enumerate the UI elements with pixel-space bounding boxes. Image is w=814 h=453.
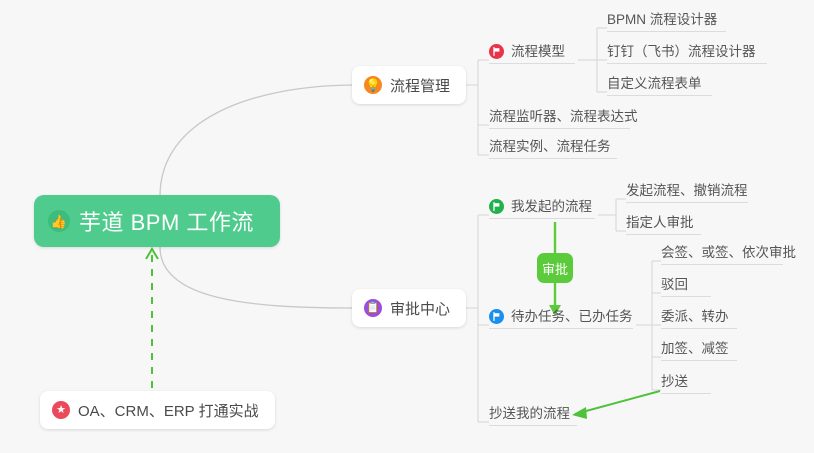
node-wo-faqi-de-liucheng[interactable]: 我发起的流程 xyxy=(489,198,595,219)
approval-badge[interactable]: 审批 xyxy=(537,253,573,283)
node-faqi-chexiao[interactable]: 发起流程、撤销流程 xyxy=(626,182,748,203)
node-chaosong-wode-liucheng[interactable]: 抄送我的流程 xyxy=(489,405,577,426)
branch-label: 审批中心 xyxy=(390,298,450,319)
flag-green-icon xyxy=(489,199,504,214)
node-daiban-yiban-renwu[interactable]: 待办任务、已办任务 xyxy=(489,308,633,329)
approval-badge-label: 审批 xyxy=(542,259,568,278)
chaosong-arrow xyxy=(572,391,660,419)
node-label: 自定义流程表单 xyxy=(607,75,702,92)
footnote-node[interactable]: ★ OA、CRM、ERP 打通实战 xyxy=(40,391,275,429)
node-liucheng-moxing[interactable]: 流程模型 xyxy=(489,43,575,64)
node-chaosong[interactable]: 抄送 xyxy=(661,373,711,394)
node-bohui[interactable]: 驳回 xyxy=(661,276,711,297)
node-liucheng-shili[interactable]: 流程实例、流程任务 xyxy=(489,138,617,159)
node-label: 抄送 xyxy=(661,373,688,390)
clipboard-icon: 📋 xyxy=(364,299,382,317)
node-label: 流程实例、流程任务 xyxy=(489,138,611,155)
node-custom-process-form[interactable]: 自定义流程表单 xyxy=(607,75,712,96)
root-node[interactable]: 👍 芋道 BPM 工作流 xyxy=(34,195,280,247)
node-label: BPMN 流程设计器 xyxy=(607,11,717,28)
node-label: 驳回 xyxy=(661,276,688,293)
node-label: 加签、减签 xyxy=(661,340,729,357)
node-huiqian-huoqian[interactable]: 会签、或签、依次审批 xyxy=(661,244,783,265)
branch-node-shenpi-zhongxin[interactable]: 📋 审批中心 xyxy=(352,289,466,327)
flag-blue-icon xyxy=(489,309,504,324)
root-label: 芋道 BPM 工作流 xyxy=(79,205,254,237)
node-label: 流程模型 xyxy=(511,43,565,60)
branch-label: 流程管理 xyxy=(390,75,450,96)
flag-red-icon xyxy=(489,44,504,59)
node-label: 流程监听器、流程表达式 xyxy=(489,108,638,125)
node-jiaqian-jianqian[interactable]: 加签、减签 xyxy=(661,340,737,361)
node-label: 我发起的流程 xyxy=(511,198,592,215)
node-liucheng-jianting[interactable]: 流程监听器、流程表达式 xyxy=(489,108,630,129)
node-bpmn-designer[interactable]: BPMN 流程设计器 xyxy=(607,11,726,32)
thumbs-up-icon: 👍 xyxy=(48,210,70,232)
mindmap-canvas: 👍 芋道 BPM 工作流 💡 流程管理 流程模型 流程监听器、流程表达式 流程实… xyxy=(0,0,814,453)
branch-node-liucheng-guanli[interactable]: 💡 流程管理 xyxy=(352,66,466,104)
node-zhidingren-shenpi[interactable]: 指定人审批 xyxy=(626,214,701,235)
node-label: 指定人审批 xyxy=(626,214,694,231)
node-label: 抄送我的流程 xyxy=(489,405,570,422)
node-label: 待办任务、已办任务 xyxy=(511,308,633,325)
node-label: 发起流程、撤销流程 xyxy=(626,182,748,199)
node-weipai-zhuanban[interactable]: 委派、转办 xyxy=(661,308,737,329)
lightbulb-icon: 💡 xyxy=(364,76,382,94)
node-label: 委派、转办 xyxy=(661,308,729,325)
dashed-green-arrow xyxy=(146,249,158,388)
star-icon: ★ xyxy=(52,401,70,419)
footnote-label: OA、CRM、ERP 打通实战 xyxy=(78,400,259,421)
node-dingtalk-feishu-designer[interactable]: 钉钉（飞书）流程设计器 xyxy=(607,43,767,64)
node-label: 钉钉（飞书）流程设计器 xyxy=(607,43,756,60)
node-label: 会签、或签、依次审批 xyxy=(661,244,796,261)
